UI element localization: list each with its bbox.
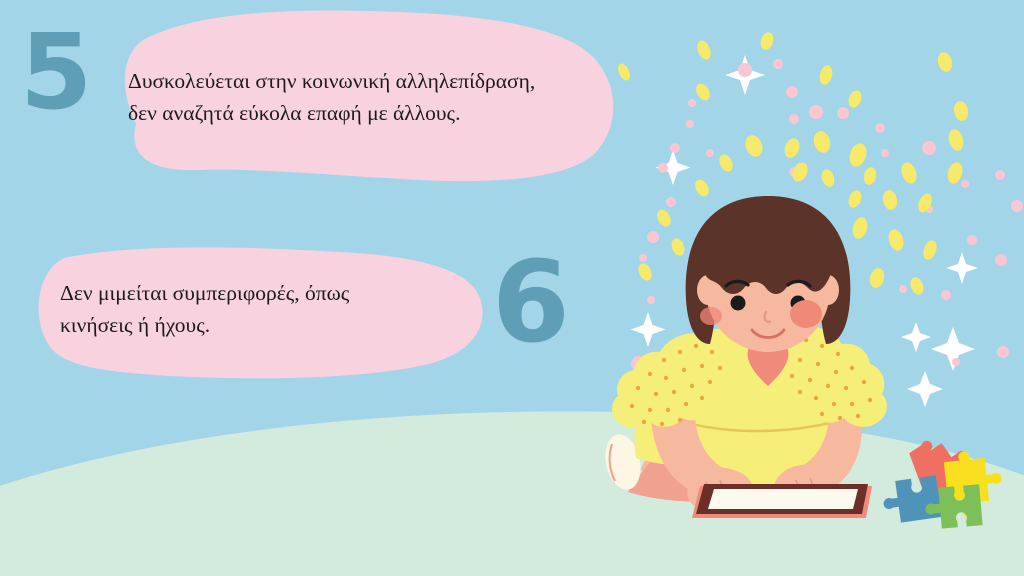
confetti-dot	[666, 197, 676, 207]
tablet	[692, 484, 872, 518]
confetti-dot	[688, 99, 696, 107]
confetti-dot	[658, 163, 668, 173]
item-text-5: Δυσκολεύεται στην κοινωνική αλληλεπίδρασ…	[128, 66, 628, 130]
confetti-dot	[967, 235, 977, 245]
confetti-dot	[875, 123, 885, 133]
confetti-dot	[961, 180, 969, 188]
confetti-dot	[941, 290, 951, 300]
confetti-dot	[706, 149, 714, 157]
confetti-dot	[786, 86, 798, 98]
confetti-dot	[995, 254, 1007, 266]
confetti-dot	[670, 143, 680, 153]
confetti-dot	[837, 107, 849, 119]
confetti-dot	[922, 141, 936, 155]
confetti-dot	[789, 114, 799, 124]
cheek-left	[700, 307, 722, 325]
confetti-dot	[997, 346, 1009, 358]
confetti-dot	[809, 105, 823, 119]
confetti-dot	[639, 254, 647, 262]
confetti-dot	[686, 120, 694, 128]
confetti-dot	[881, 149, 889, 157]
confetti-dot	[773, 59, 783, 69]
confetti-dot	[995, 170, 1005, 180]
confetti-dot	[899, 285, 907, 293]
slide-canvas: 5 Δυσκολεύεται στην κοινωνική αλληλεπίδρ…	[0, 0, 1024, 576]
eye-left	[731, 296, 746, 311]
tablet-screen	[708, 489, 858, 509]
confetti-dot	[952, 358, 960, 366]
confetti-dot	[647, 231, 659, 243]
confetti-dot	[1011, 200, 1023, 212]
confetti-dot	[738, 63, 752, 77]
item-number-6: 6	[492, 247, 568, 359]
item-number-5: 5	[20, 20, 90, 124]
item-text-6: Δεν μιμείται συμπεριφορές, όπως κινήσεις…	[60, 278, 490, 342]
cheek-right	[790, 300, 822, 328]
confetti-dot	[647, 296, 655, 304]
